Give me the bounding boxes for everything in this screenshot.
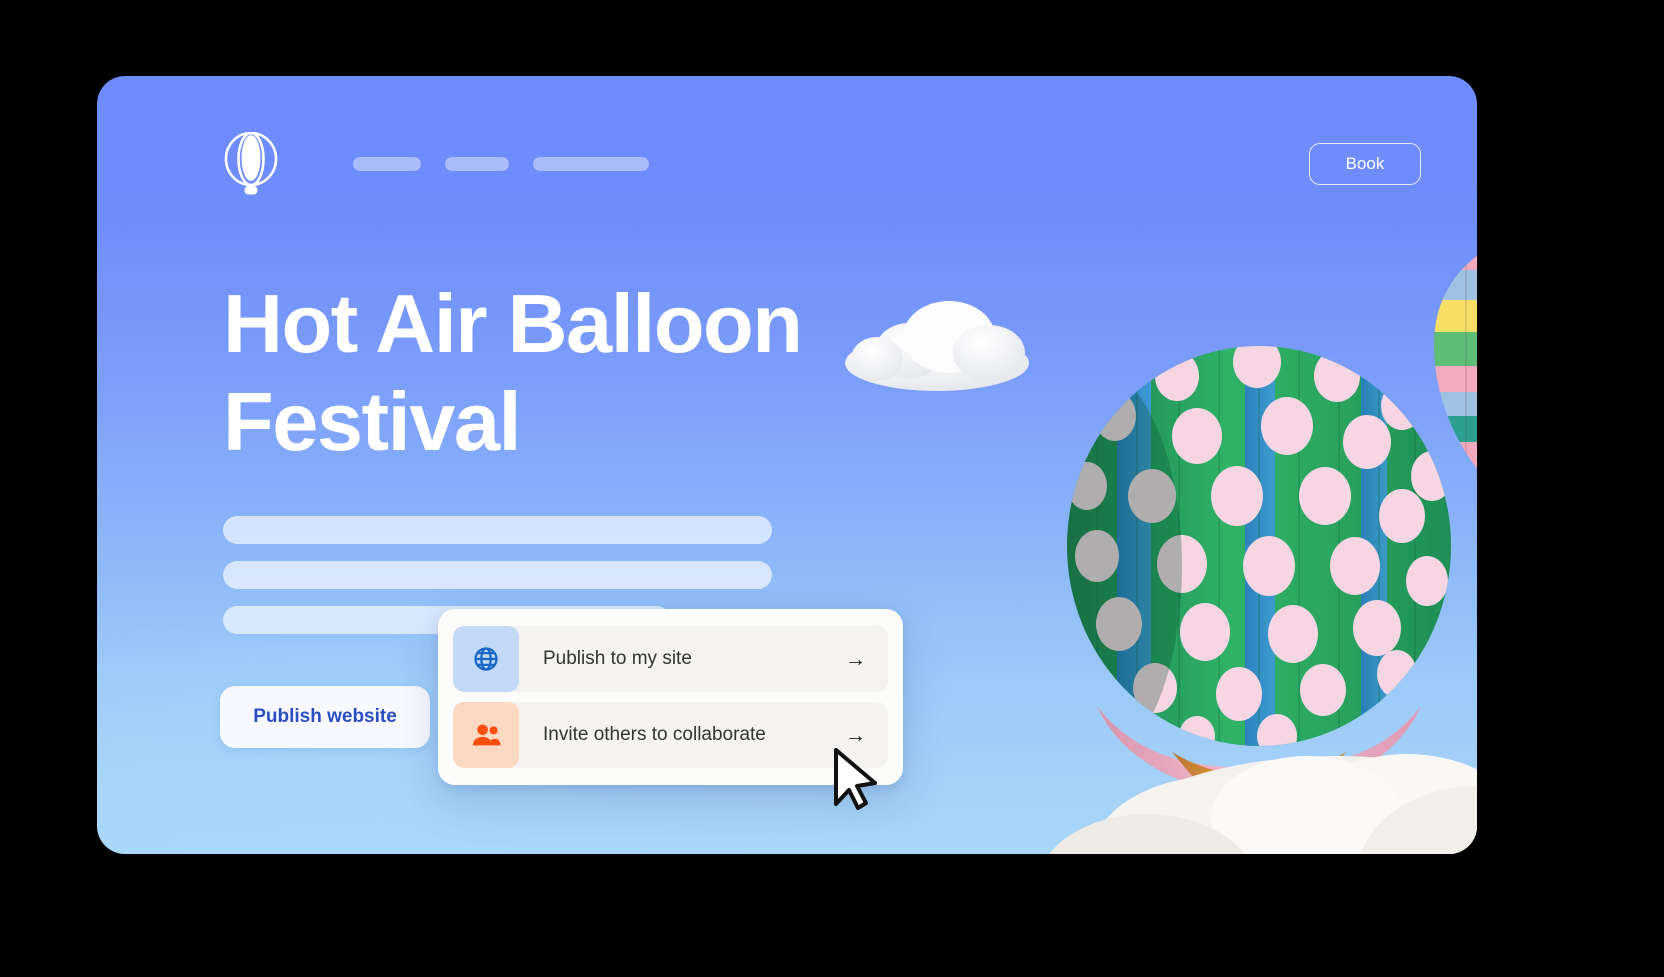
skeleton-bar-2 (223, 561, 772, 589)
people-icon (453, 702, 519, 768)
arrow-right-icon: → (845, 649, 866, 670)
menu-item-invite-others[interactable]: Invite others to collaborate → (453, 702, 888, 768)
menu-item-label: Invite others to collaborate (543, 724, 845, 746)
arrow-right-icon: → (845, 725, 866, 746)
globe-icon (453, 626, 519, 692)
publish-website-button[interactable]: Publish website (220, 686, 430, 748)
publish-options-menu: Publish to my site → Invite others to co… (438, 609, 903, 785)
nav-link-placeholder-3[interactable] (533, 157, 649, 171)
screenshot-stage: Book Hot Air Balloon Festival Publish we… (0, 0, 1664, 977)
bottom-cloud-bank (1037, 754, 1477, 854)
rainbow-striped-balloon (1427, 226, 1477, 486)
website-canvas: Book Hot Air Balloon Festival Publish we… (97, 76, 1477, 854)
nav-link-placeholder-2[interactable] (445, 157, 509, 171)
nav-links (353, 157, 649, 171)
site-navbar: Book (223, 134, 1421, 194)
book-button[interactable]: Book (1309, 143, 1421, 185)
nav-link-placeholder-1[interactable] (353, 157, 421, 171)
menu-item-publish-to-my-site[interactable]: Publish to my site → (453, 626, 888, 692)
green-polka-dot-balloon (1002, 334, 1467, 842)
hot-air-balloon-logo-icon[interactable] (223, 132, 279, 196)
menu-item-label: Publish to my site (543, 648, 845, 670)
page-title: Hot Air Balloon Festival (223, 275, 883, 471)
skeleton-bar-1 (223, 516, 772, 544)
